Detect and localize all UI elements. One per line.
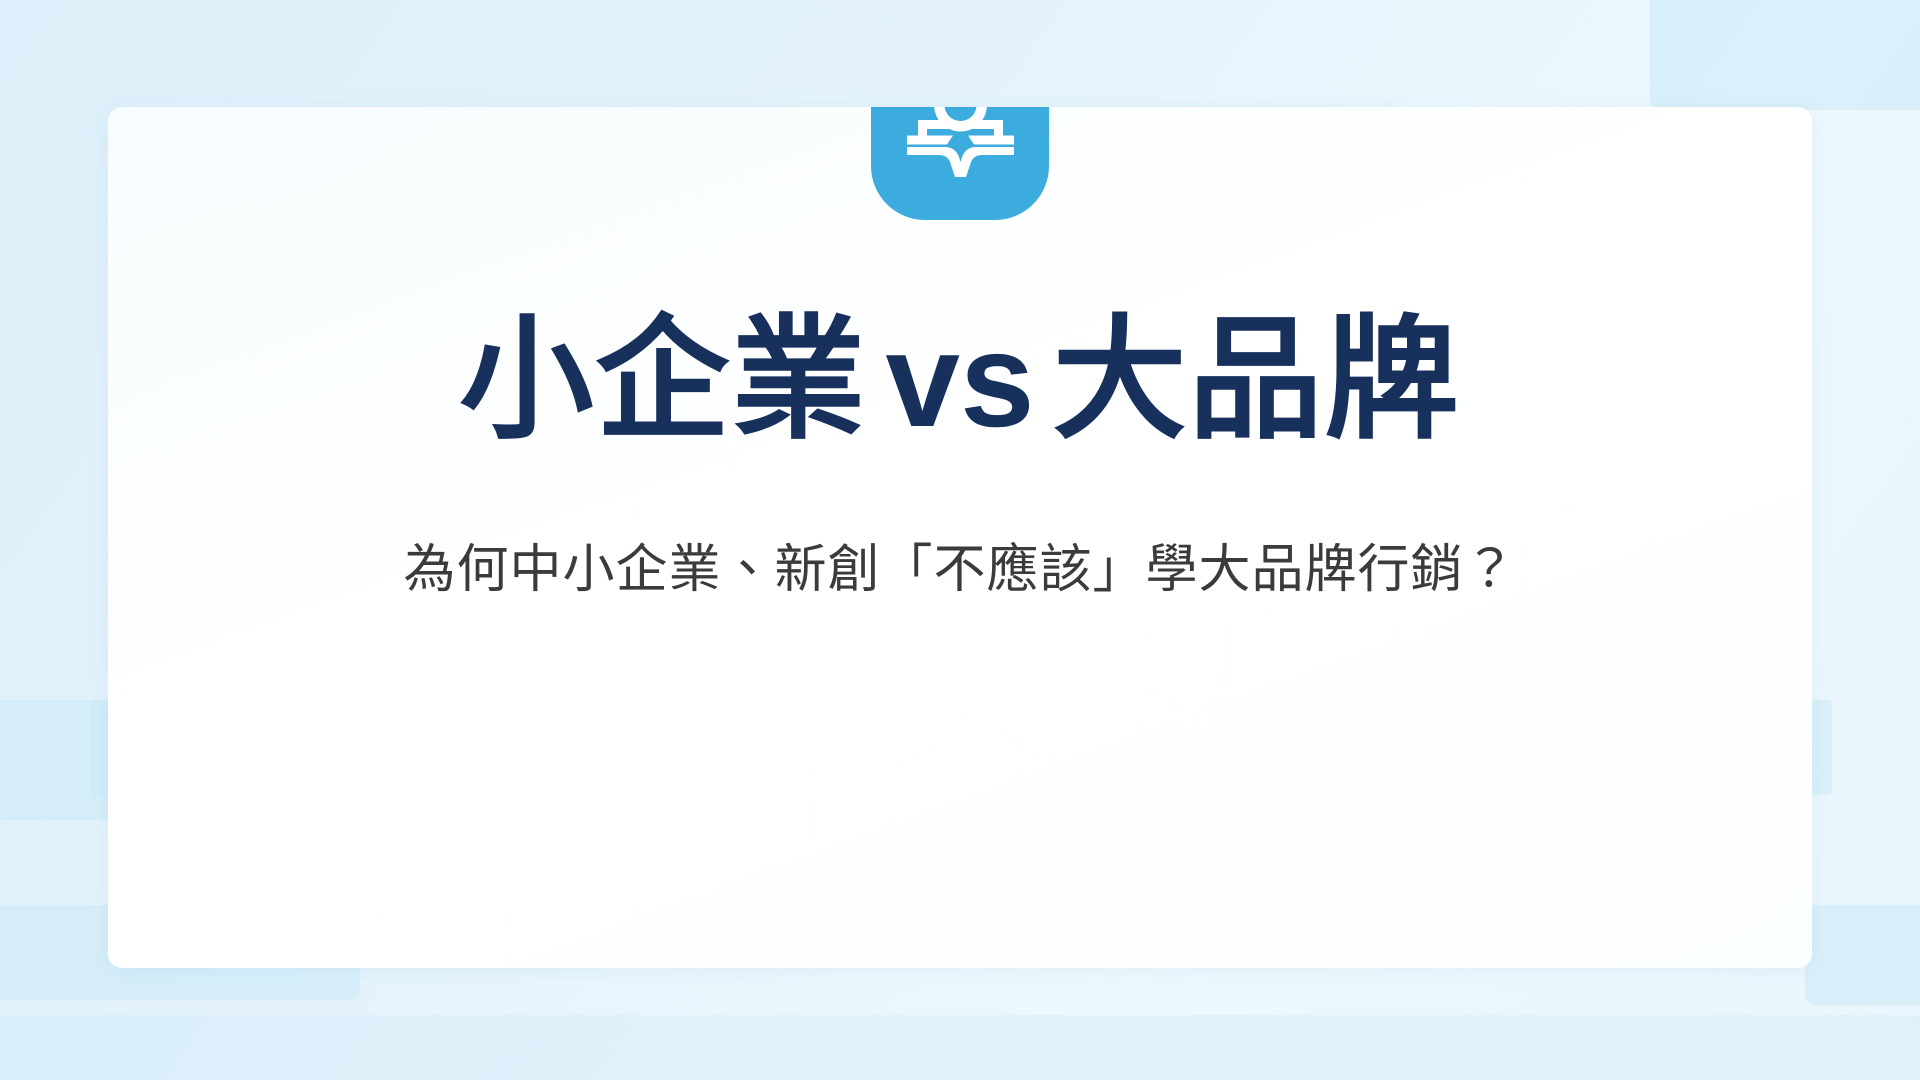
title-vs-separator: vs bbox=[867, 306, 1052, 455]
page-title: 小企業vs大品牌 bbox=[108, 302, 1812, 460]
logo-badge bbox=[871, 107, 1049, 220]
brand-logo bbox=[871, 107, 1049, 220]
slide-canvas: 小企業vs大品牌 為何中小企業、新創「不應該」學大品牌行銷？ bbox=[0, 0, 1920, 1080]
decor-ghost-shape-base bbox=[808, 667, 1228, 968]
decor-block-right-edge bbox=[1812, 700, 1832, 795]
decor-block-top-right bbox=[1650, 0, 1920, 110]
decor-block-right-lower bbox=[1805, 905, 1920, 1005]
decor-block-bottom-strip bbox=[0, 1015, 1920, 1080]
page-subtitle: 為何中小企業、新創「不應該」學大品牌行銷？ bbox=[108, 534, 1812, 607]
decor-block-left-edge bbox=[90, 700, 110, 795]
open-book-smiling-face-icon bbox=[901, 107, 1019, 179]
title-part-small-business: 小企業 bbox=[459, 306, 867, 455]
content-card: 小企業vs大品牌 為何中小企業、新創「不應該」學大品牌行銷？ bbox=[108, 107, 1812, 968]
card-inner: 小企業vs大品牌 為何中小企業、新創「不應該」學大品牌行銷？ bbox=[108, 107, 1812, 968]
hero-text-block: 小企業vs大品牌 為何中小企業、新創「不應該」學大品牌行銷？ bbox=[108, 302, 1812, 607]
title-part-big-brand: 大品牌 bbox=[1053, 306, 1461, 455]
